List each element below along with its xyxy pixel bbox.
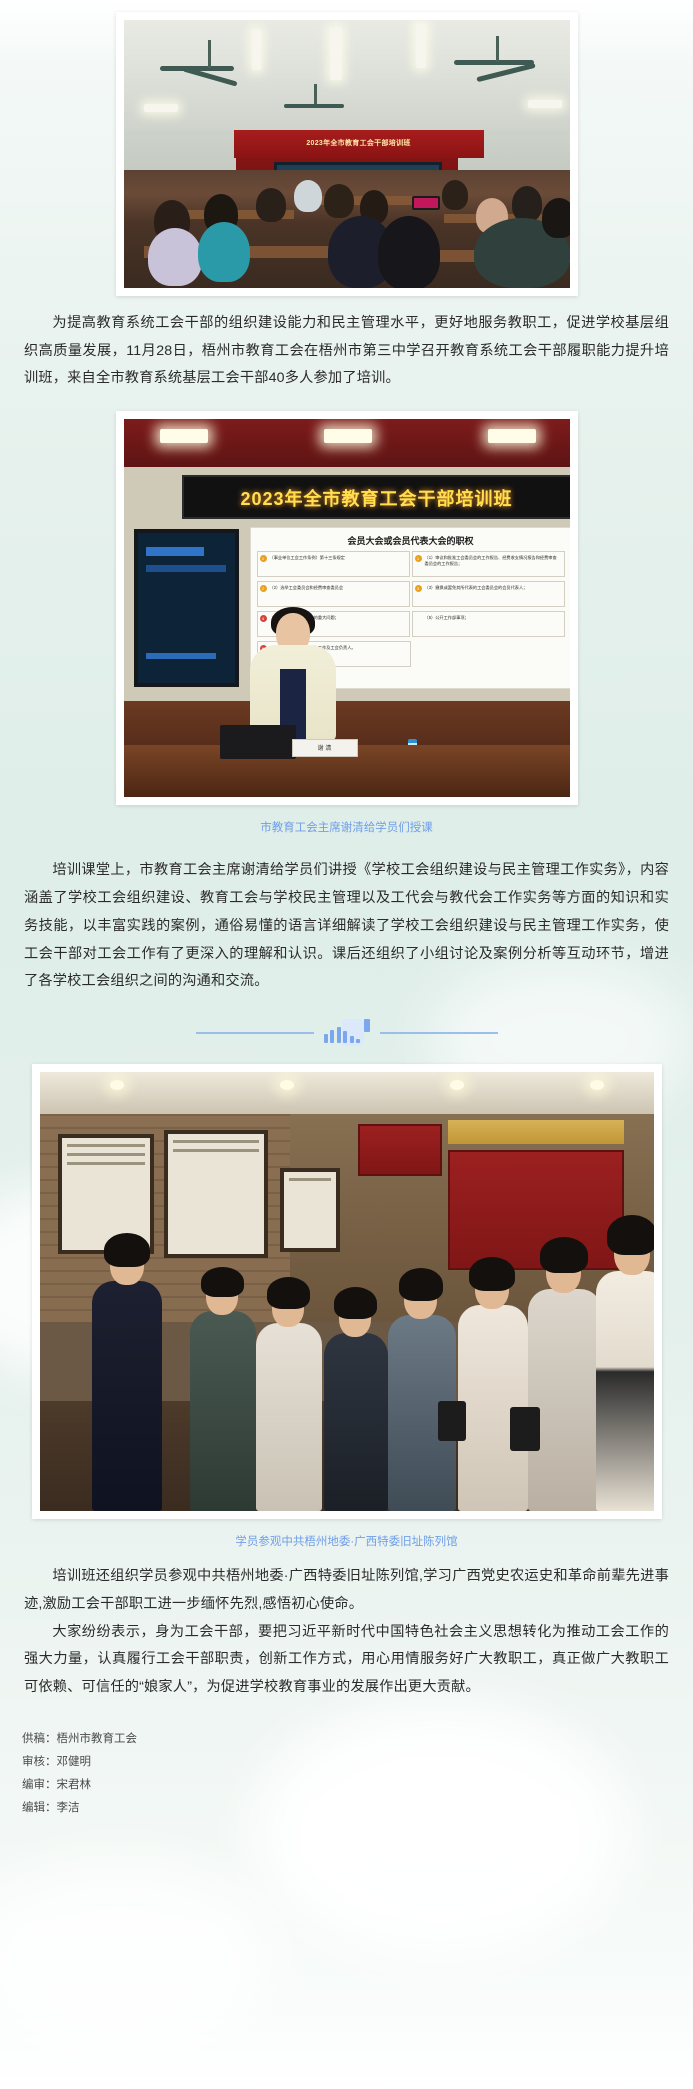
paragraph-intro: 为提高教育系统工会干部的组织建设能力和民主管理水平，更好地服务教职工，促进学校基… (0, 296, 693, 393)
paragraph-closing: 大家纷纷表示，身为工会干部，要把习近平新时代中国特色社会主义思想转化为推动工会工… (0, 1619, 693, 1702)
photo-frame-lecture: 2023年全市教育工会干部培训班 会员大会或会员代表大会的职权 1 （事业单位工… (116, 411, 578, 805)
ceiling-fan-rod (496, 36, 499, 62)
credit-value-submitter: 梧州市教育工会 (57, 1733, 138, 1745)
ceiling-fan-rod (208, 40, 211, 68)
section-divider (0, 996, 693, 1064)
visitor-body (528, 1289, 602, 1511)
panel-line (67, 1162, 145, 1165)
audience-head (378, 216, 440, 288)
visitor-body (324, 1333, 388, 1511)
panel-line (67, 1153, 145, 1156)
visitor-hair (334, 1287, 377, 1319)
audience-head (442, 180, 468, 210)
slide-cell-text: （5）公开工作部事项； (425, 615, 469, 620)
visitor-hair (469, 1257, 515, 1291)
exhibit-photo-panel (164, 1130, 268, 1258)
exhibit-photo-panel (280, 1168, 340, 1252)
credit-label-reviewer: 审核： (22, 1756, 57, 1768)
gold-banner-panel (448, 1120, 624, 1144)
visitor-hair (399, 1268, 443, 1301)
ceiling-light (160, 429, 208, 443)
slide-cell-text: （3）撤换或罢免其所代表的工会委员会的会员代表人； (425, 585, 528, 590)
photo-frame-museum (32, 1064, 662, 1519)
divider-line-left (196, 1032, 314, 1034)
audience-head (294, 180, 322, 212)
ceiling-light (324, 429, 372, 443)
ceiling (40, 1072, 654, 1114)
credit-value-editor: 李洁 (57, 1802, 80, 1814)
panel-line (67, 1144, 145, 1147)
bar-chart-bars (324, 1027, 361, 1043)
visitor-hair (267, 1277, 310, 1309)
slide-cell-text: （2）选举工会委员会和经费审查委员会 (270, 585, 344, 590)
visitor-body (92, 1281, 162, 1511)
paragraph-lecture-content: 培训课堂上，市教育工会主席谢清给学员们讲授《学校工会组织建设与民主管理工作实务》… (0, 843, 693, 995)
visitor-hair (104, 1233, 150, 1267)
panel-line (173, 1140, 259, 1143)
credit-row-submitter: 供稿：梧州市教育工会 (22, 1728, 671, 1751)
visitor-body (596, 1271, 654, 1511)
stage-banner-text: 2023年全市教育工会干部培训班 (234, 130, 484, 158)
nameplate: 谢 清 (292, 739, 358, 757)
display-line (146, 565, 226, 572)
ceiling-light (488, 429, 536, 443)
spotlight (450, 1080, 464, 1090)
photo-caption-museum: 学员参观中共梧州地委·广西特委旧址陈列馆 (0, 1519, 693, 1557)
audience-head (256, 188, 286, 222)
ceiling-light (528, 100, 562, 108)
audience-head (512, 186, 542, 222)
red-exhibit-panel (448, 1150, 624, 1270)
credit-label-submitter: 供稿： (22, 1733, 57, 1745)
smartphone-screen (412, 196, 440, 210)
handbag (438, 1401, 466, 1441)
display-line (146, 653, 216, 659)
speaker-person (250, 611, 336, 741)
spotlight (590, 1080, 604, 1090)
credit-row-chief-editor: 编审：宋君林 (22, 1774, 671, 1797)
document-bar-chart-icon (324, 1018, 370, 1048)
led-banner-text: 2023年全市教育工会干部培训班 (182, 475, 570, 519)
ceiling-fan-blade (454, 60, 534, 65)
slide-bullet-number: 3 (415, 585, 422, 592)
divider-line-right (380, 1032, 498, 1034)
ceiling-light (416, 24, 426, 68)
handbag (510, 1407, 540, 1451)
panel-line (173, 1149, 259, 1152)
slide-cell: 1 （1）审议和批准工会委员会的工作报告、经费收支情况报告和经费审查委员会的工作… (412, 551, 565, 577)
slide-cell: 3 （3）撤换或罢免其所代表的工会委员会的会员代表人； (412, 581, 565, 607)
credits-block: 供稿：梧州市教育工会 审核：邓健明 编审：宋君林 编辑：李洁 (0, 1702, 693, 1850)
ceiling-red (124, 419, 570, 467)
article-page: 2023年全市教育工会干部培训班 (0, 0, 693, 2089)
document-tab (364, 1019, 370, 1032)
lecture-presentation-photo: 2023年全市教育工会干部培训班 会员大会或会员代表大会的职权 1 （事业单位工… (124, 419, 570, 797)
ceiling-light (144, 104, 178, 112)
paragraph-museum-visit: 培训班还组织学员参观中共梧州地委·广西特委旧址陈列馆,学习广西党史农运史和革命前… (0, 1557, 693, 1618)
slide-cell-text: （1）审议和批准工会委员会的工作报告、经费收支情况报告和经费审查委员会的工作报告… (425, 555, 557, 566)
audience-crowd (124, 170, 570, 288)
audience-head (542, 198, 570, 238)
spotlight (280, 1080, 294, 1090)
audience-shoulders (198, 222, 250, 282)
credit-row-reviewer: 审核：邓健明 (22, 1751, 671, 1774)
visitor-body (190, 1311, 256, 1511)
museum-exhibition-visit-photo (40, 1072, 654, 1511)
ceiling-fan-blade (284, 104, 344, 108)
ceiling-light (330, 28, 342, 80)
red-exhibit-panel (358, 1124, 442, 1176)
ceiling-fan-rod (314, 84, 317, 104)
slide-cell: 1 （事业单位工会工作条例）第十三条规定 (257, 551, 410, 577)
wall-display-left (134, 529, 239, 687)
ceiling-light (252, 30, 261, 70)
visitor-hair (540, 1237, 588, 1273)
slide-bullet-number: 2 (260, 585, 267, 592)
slide-bullet-number: 1 (415, 555, 422, 562)
slide-title: 会员大会或会员代表大会的职权 (251, 528, 570, 547)
credit-label-editor: 编辑： (22, 1802, 57, 1814)
credit-row-editor: 编辑：李洁 (22, 1797, 671, 1820)
visitor-hair (201, 1267, 244, 1297)
credit-value-reviewer: 邓健明 (57, 1756, 92, 1768)
credit-value-chief-editor: 宋君林 (57, 1779, 92, 1791)
auditorium-audience-photo: 2023年全市教育工会干部培训班 (124, 20, 570, 288)
credit-label-chief-editor: 编审： (22, 1779, 57, 1791)
spotlight (110, 1080, 124, 1090)
slide-bullet-number: 1 (260, 555, 267, 562)
visitor-hair (607, 1215, 654, 1255)
photo-frame-auditorium: 2023年全市教育工会干部培训班 (116, 12, 578, 296)
panel-line (289, 1178, 331, 1181)
slide-cell-text: （事业单位工会工作条例）第十三条规定 (270, 555, 345, 560)
laptop (220, 725, 296, 759)
photo-caption-lecture: 市教育工会主席谢清给学员们授课 (0, 805, 693, 843)
slide-cell-empty (413, 641, 565, 667)
audience-shoulders (148, 228, 202, 286)
slide-cell: （5）公开工作部事项； (412, 611, 565, 637)
visitor-body (256, 1323, 322, 1511)
audience-head (324, 184, 354, 218)
slide-cell: 2 （2）选举工会委员会和经费审查委员会 (257, 581, 410, 607)
display-line (146, 547, 204, 556)
background-blob (0, 1860, 280, 2050)
